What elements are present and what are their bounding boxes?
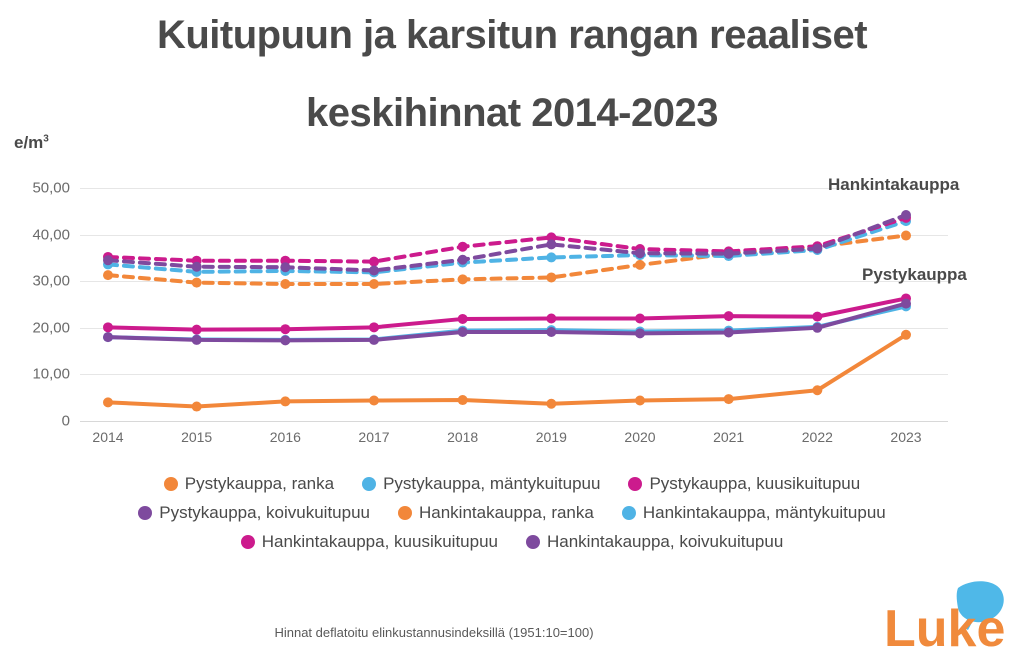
legend-row: Pystykauppa, rankaPystykauppa, mäntykuit…	[0, 474, 1024, 494]
y-axis-tick-label: 10,00	[32, 366, 70, 383]
data-point	[369, 395, 379, 405]
data-point	[635, 313, 645, 323]
data-point	[901, 231, 911, 241]
data-point	[546, 239, 556, 249]
legend-marker-icon	[362, 477, 376, 491]
data-point	[192, 325, 202, 335]
data-point	[901, 210, 911, 220]
luke-logo-svg: Luke	[880, 580, 1012, 654]
data-point	[458, 255, 468, 265]
data-point	[369, 265, 379, 275]
data-point	[635, 395, 645, 405]
legend-item[interactable]: Hankintakauppa, mäntykuitupuu	[622, 503, 886, 523]
x-axis-tick-label: 2020	[624, 429, 655, 445]
x-axis-tick-label: 2018	[447, 429, 478, 445]
data-point	[635, 260, 645, 270]
chart-root: Kuitupuun ja karsitun rangan reaaliset k…	[0, 0, 1024, 666]
data-point	[812, 312, 822, 322]
legend-marker-icon	[628, 477, 642, 491]
legend-item[interactable]: Hankintakauppa, ranka	[398, 503, 594, 523]
data-point	[635, 328, 645, 338]
data-point	[812, 385, 822, 395]
x-axis-tick-label: 2014	[92, 429, 123, 445]
x-axis-line	[80, 421, 948, 422]
series-line	[108, 298, 906, 329]
y-axis-unit-text: e/m	[14, 133, 43, 152]
data-point	[546, 327, 556, 337]
y-axis-tick-label: 30,00	[32, 273, 70, 290]
legend-marker-icon	[164, 477, 178, 491]
legend-item[interactable]: Hankintakauppa, koivukuitupuu	[526, 532, 783, 552]
legend-row: Pystykauppa, koivukuitupuuHankintakauppa…	[0, 503, 1024, 523]
y-axis-unit-exponent: 3	[43, 133, 49, 144]
chart-footnote-text: Hinnat deflatoitu elinkustannusindeksill…	[274, 625, 593, 640]
chart-title-line-1: Kuitupuun ja karsitun rangan reaaliset	[0, 8, 1024, 62]
data-point	[192, 262, 202, 272]
data-point	[458, 314, 468, 324]
x-axis-tick-label: 2023	[890, 429, 921, 445]
luke-logo: Luke	[880, 580, 1012, 654]
data-point	[546, 399, 556, 409]
legend-item[interactable]: Pystykauppa, kuusikuitupuu	[628, 474, 860, 494]
legend-marker-icon	[398, 506, 412, 520]
data-point	[280, 324, 290, 334]
data-point	[724, 394, 734, 404]
series-line	[108, 335, 906, 407]
x-axis-tick-label: 2022	[802, 429, 833, 445]
data-point	[103, 322, 113, 332]
chart-title: Kuitupuun ja karsitun rangan reaaliset k…	[0, 8, 1024, 140]
data-point	[103, 332, 113, 342]
series-line	[108, 304, 906, 341]
legend-marker-icon	[241, 535, 255, 549]
series-line	[108, 218, 906, 262]
series-layer	[80, 188, 948, 421]
series-line	[108, 306, 906, 340]
annotation-hankintakauppa: Hankintakauppa	[828, 175, 959, 195]
legend-marker-icon	[622, 506, 636, 520]
x-axis-tick-label: 2015	[181, 429, 212, 445]
x-axis-tick-label: 2019	[536, 429, 567, 445]
legend-label: Hankintakauppa, mäntykuitupuu	[643, 503, 886, 523]
data-point	[458, 274, 468, 284]
data-point	[458, 242, 468, 252]
data-point	[369, 279, 379, 289]
series-3	[103, 299, 911, 346]
legend-label: Pystykauppa, kuusikuitupuu	[649, 474, 860, 494]
legend-label: Pystykauppa, koivukuitupuu	[159, 503, 370, 523]
chart-legend: Pystykauppa, rankaPystykauppa, mäntykuit…	[0, 474, 1024, 561]
y-axis-tick-label: 0	[62, 413, 70, 430]
legend-item[interactable]: Pystykauppa, mäntykuitupuu	[362, 474, 600, 494]
legend-marker-icon	[526, 535, 540, 549]
chart-footnote: Hinnat deflatoitu elinkustannusindeksill…	[0, 625, 1024, 640]
data-point	[812, 244, 822, 254]
y-axis-tick-label: 20,00	[32, 319, 70, 336]
data-point	[458, 395, 468, 405]
data-point	[280, 279, 290, 289]
legend-item[interactable]: Pystykauppa, koivukuitupuu	[138, 503, 370, 523]
x-axis-tick-label: 2017	[358, 429, 389, 445]
data-point	[280, 335, 290, 345]
chart-title-line-2: keskihinnat 2014-2023	[0, 86, 1024, 140]
legend-label: Hankintakauppa, ranka	[419, 503, 594, 523]
data-point	[458, 327, 468, 337]
data-point	[192, 402, 202, 412]
legend-item[interactable]: Hankintakauppa, kuusikuitupuu	[241, 532, 498, 552]
data-point	[546, 252, 556, 262]
y-axis-tick-label: 50,00	[32, 180, 70, 197]
data-point	[635, 248, 645, 258]
luke-wordmark-text: Luke	[884, 600, 1005, 654]
annotation-pystykauppa: Pystykauppa	[862, 265, 967, 285]
data-point	[724, 311, 734, 321]
data-point	[812, 323, 822, 333]
legend-label: Hankintakauppa, kuusikuitupuu	[262, 532, 498, 552]
data-point	[103, 397, 113, 407]
data-point	[546, 313, 556, 323]
legend-label: Pystykauppa, mäntykuitupuu	[383, 474, 600, 494]
data-point	[724, 327, 734, 337]
plot-area: 010,0020,0030,0040,0050,00 2014201520162…	[80, 188, 948, 421]
data-point	[192, 335, 202, 345]
data-point	[103, 270, 113, 280]
x-axis-tick-label: 2021	[713, 429, 744, 445]
data-point	[546, 272, 556, 282]
data-point	[103, 255, 113, 265]
legend-row: Hankintakauppa, kuusikuitupuuHankintakau…	[0, 532, 1024, 552]
legend-marker-icon	[138, 506, 152, 520]
data-point	[369, 257, 379, 267]
data-point	[724, 249, 734, 259]
data-point	[280, 262, 290, 272]
data-point	[280, 396, 290, 406]
legend-label: Pystykauppa, ranka	[185, 474, 334, 494]
y-axis-unit-label: e/m3	[14, 133, 49, 153]
legend-label: Hankintakauppa, koivukuitupuu	[547, 532, 783, 552]
data-point	[369, 335, 379, 345]
data-point	[901, 330, 911, 340]
legend-item[interactable]: Pystykauppa, ranka	[164, 474, 334, 494]
y-axis-tick-label: 40,00	[32, 226, 70, 243]
data-point	[369, 322, 379, 332]
data-point	[901, 299, 911, 309]
data-point	[192, 278, 202, 288]
x-axis-tick-label: 2016	[270, 429, 301, 445]
